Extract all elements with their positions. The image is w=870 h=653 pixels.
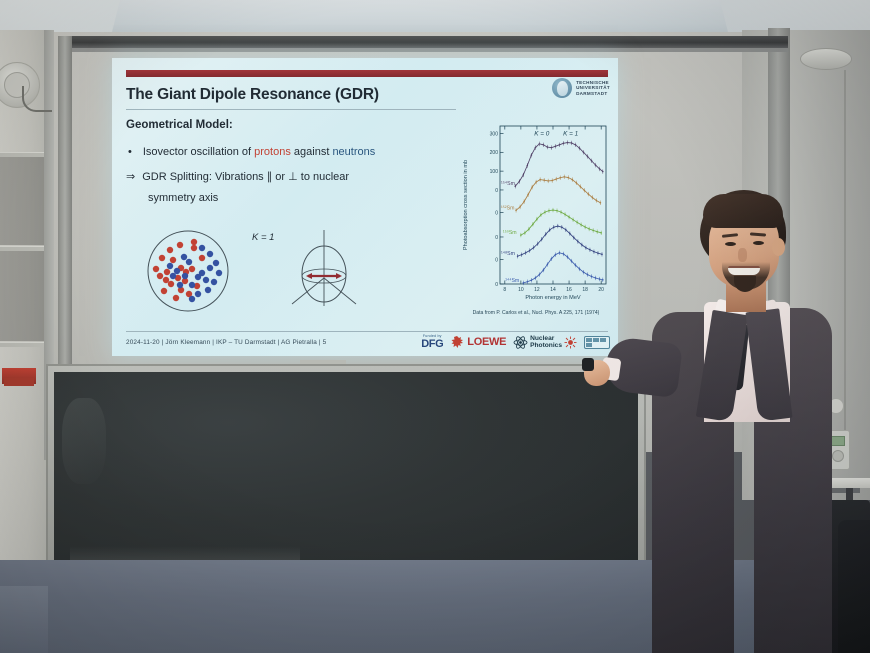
loewe-lion-icon xyxy=(450,335,465,350)
nuclear-photonics-logo: Nuclear Photonics xyxy=(513,335,577,350)
atom-icon xyxy=(513,335,528,350)
shelf-recess xyxy=(0,157,44,245)
bullet-2-line-1: GDR Splitting: Vibrations ∥ or ⊥ to nucl… xyxy=(142,170,349,183)
shelf-recess xyxy=(0,251,44,341)
title-divider xyxy=(126,109,456,110)
footer-divider xyxy=(126,331,608,332)
np-line-2: Photonics xyxy=(530,342,562,349)
svg-text:0: 0 xyxy=(495,257,498,263)
bullet-marker: • xyxy=(128,146,132,159)
red-book-2 xyxy=(4,378,34,386)
floor-left xyxy=(0,586,48,653)
footer-institute: IKP – TU Darmstadt xyxy=(216,339,276,346)
chalk-smudge xyxy=(62,398,106,484)
bullet-1-text: Isovector oscillation of protons against… xyxy=(143,146,375,159)
loewe-text: LOEWE xyxy=(467,336,506,348)
blackboard-surface[interactable] xyxy=(54,372,638,574)
svg-text:¹⁵⁴Sm: ¹⁵⁴Sm xyxy=(501,181,515,187)
np-line-1: Nuclear xyxy=(530,335,562,342)
presenter xyxy=(576,190,806,653)
eye-right xyxy=(753,241,764,245)
bullet-2-line-2: symmetry axis xyxy=(148,192,218,204)
cable xyxy=(22,86,52,112)
svg-text:0: 0 xyxy=(495,235,498,241)
slide-accent-bar xyxy=(126,70,608,77)
loewe-logo: LOEWE xyxy=(450,335,506,350)
nuclear-photonics-text: Nuclear Photonics xyxy=(530,335,562,349)
lecture-room-scene: The Giant Dipole Resonance (GDR) TECHNIS… xyxy=(0,0,870,653)
tud-line-3: DARMSTADT xyxy=(576,91,610,97)
svg-text:K = 0: K = 0 xyxy=(534,130,550,137)
tud-emblem-icon xyxy=(552,78,572,98)
dfg-logo: Funded by DFG xyxy=(421,334,443,350)
emergency-button-icon[interactable] xyxy=(832,450,844,462)
ear xyxy=(772,238,785,256)
svg-text:Photoabsorption cross section: Photoabsorption cross section in mb xyxy=(463,160,469,250)
k1-schematic: K = 1 xyxy=(252,224,362,316)
slide-footer-meta: 2024-11-20 | Jörn Kleemann | IKP – TU Da… xyxy=(126,339,326,346)
bullet-1-part-0: Isovector oscillation of xyxy=(143,146,254,158)
footer-sep-2: | xyxy=(212,339,214,346)
eye-left xyxy=(725,242,736,246)
jacket-secondary xyxy=(838,520,870,653)
footer-group: AG Pietralla xyxy=(281,339,317,346)
presentation-clicker[interactable] xyxy=(582,358,594,371)
svg-text:0: 0 xyxy=(495,282,498,288)
screen-rail xyxy=(58,36,788,48)
svg-text:14: 14 xyxy=(550,287,556,293)
footer-date: 2024-11-20 xyxy=(126,339,160,346)
blackboard-frame[interactable] xyxy=(46,364,646,590)
slide: The Giant Dipole Resonance (GDR) TECHNIS… xyxy=(112,58,618,356)
nucleus-svg xyxy=(140,228,236,314)
bullet-item-2: ⇒ GDR Splitting: Vibrations ∥ or ⊥ to nu… xyxy=(126,170,462,183)
shelf xyxy=(0,342,44,347)
nose xyxy=(738,248,747,262)
bullet-1-protons: protons xyxy=(254,146,291,158)
footer-author: Jörn Kleemann xyxy=(165,339,210,346)
footer-sep-3: | xyxy=(278,339,280,346)
nucleus-schematic xyxy=(140,228,236,314)
footer-sep-1: | xyxy=(162,339,164,346)
svg-text:300: 300 xyxy=(490,131,499,137)
dfg-text: DFG xyxy=(421,338,443,350)
svg-text:¹⁴⁸Sm: ¹⁴⁸Sm xyxy=(501,251,515,257)
projection-screen: The Giant Dipole Resonance (GDR) TECHNIS… xyxy=(112,58,618,356)
svg-text:12: 12 xyxy=(534,287,540,293)
svg-text:0: 0 xyxy=(495,210,498,216)
hair-front xyxy=(703,194,783,228)
svg-text:K = 1: K = 1 xyxy=(563,130,579,137)
ceiling-lamp xyxy=(800,48,852,70)
section-heading: Geometrical Model: xyxy=(126,119,233,131)
tud-logo-text: TECHNISCHE UNIVERSITÄT DARMSTADT xyxy=(576,80,610,97)
svg-text:¹⁵²Sm: ¹⁵²Sm xyxy=(501,205,514,211)
bullet-item-1: • Isovector oscillation of protons again… xyxy=(128,146,458,159)
tud-line-2: UNIVERSITÄT xyxy=(576,85,610,91)
svg-text:Photon energy in MeV: Photon energy in MeV xyxy=(525,295,581,301)
svg-text:10: 10 xyxy=(518,287,524,293)
bullet-1-part-2: against xyxy=(291,146,333,158)
svg-text:¹⁵⁰Sm: ¹⁵⁰Sm xyxy=(503,230,517,236)
svg-text:100: 100 xyxy=(490,169,499,175)
door-edge xyxy=(844,70,846,470)
mouth xyxy=(728,266,760,275)
panel-display xyxy=(831,436,845,446)
bullet-1-neutrons: neutrons xyxy=(332,146,375,158)
k1-label: K = 1 xyxy=(252,232,274,243)
svg-text:8: 8 xyxy=(503,287,506,293)
neutron-dots xyxy=(167,245,222,302)
footer-page-number: 5 xyxy=(323,339,327,346)
svg-text:0: 0 xyxy=(495,188,498,194)
svg-text:16: 16 xyxy=(566,287,572,293)
footer-sep-4: | xyxy=(319,339,321,346)
tu-darmstadt-logo: TECHNISCHE UNIVERSITÄT DARMSTADT xyxy=(552,78,610,98)
svg-text:200: 200 xyxy=(490,150,499,156)
slide-title: The Giant Dipole Resonance (GDR) xyxy=(126,86,379,104)
implies-marker: ⇒ xyxy=(126,170,135,183)
svg-text:¹⁴⁴Sm: ¹⁴⁴Sm xyxy=(505,278,519,284)
screen-rail-edge xyxy=(58,48,788,52)
